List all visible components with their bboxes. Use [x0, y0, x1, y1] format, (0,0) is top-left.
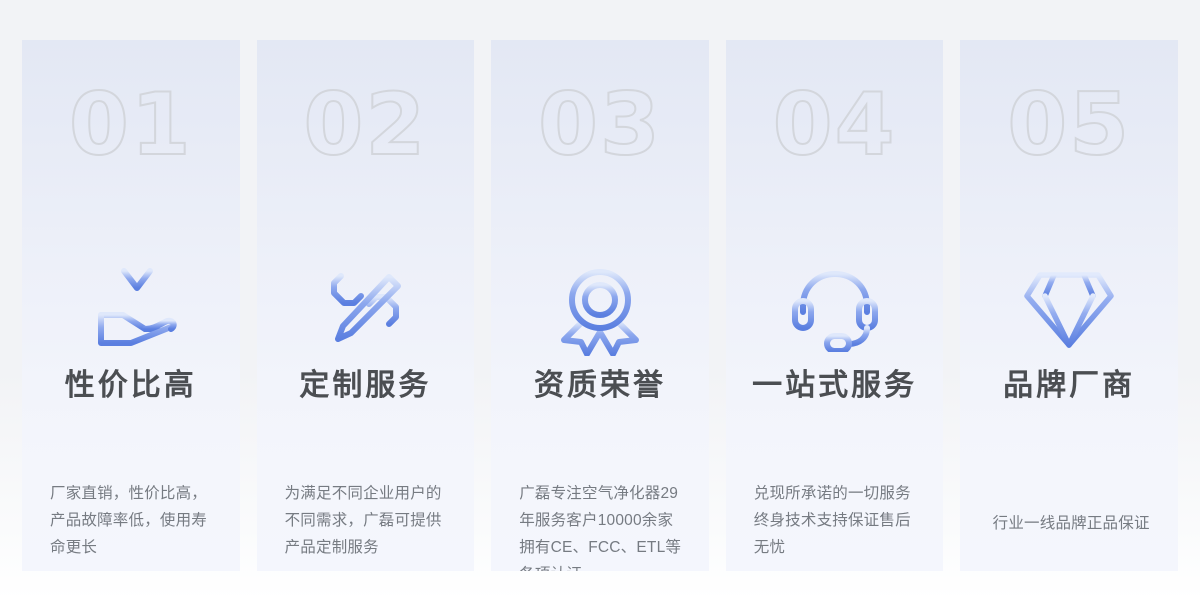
card-description: 广磊专注空气净化器29年服务客户10000余家拥有CE、FCC、ETL等各项认证 [519, 480, 689, 571]
card-description: 厂家直销，性价比高，产品故障率低，使用寿命更长 [50, 480, 220, 561]
card-ordinal-number: 01 [22, 82, 240, 168]
feature-card[interactable]: 01 [22, 40, 240, 571]
diamond-gem-icon [960, 262, 1178, 358]
feature-card[interactable]: 04 [726, 40, 944, 571]
award-ribbon-icon [491, 262, 709, 358]
card-ordinal-number: 02 [257, 82, 475, 168]
pen-and-wrench-icon [257, 262, 475, 358]
headset-support-icon [726, 262, 944, 358]
card-title: 品牌厂商 [960, 367, 1178, 405]
card-description: 兑现所承诺的一切服务终身技术支持保证售后无忧 [754, 480, 924, 561]
feature-card-list: 01 [22, 40, 1178, 571]
card-title: 定制服务 [257, 367, 475, 405]
card-ordinal-number: 03 [491, 82, 709, 168]
card-description: 为满足不同企业用户的不同需求，广磊可提供产品定制服务 [285, 480, 455, 561]
card-title: 一站式服务 [726, 367, 944, 405]
feature-card[interactable]: 03 [491, 40, 709, 571]
card-description: 行业一线品牌正品保证 [974, 510, 1168, 537]
card-ordinal-number: 04 [726, 82, 944, 168]
hand-holding-yuan-icon [22, 262, 240, 358]
card-title: 资质荣誉 [491, 367, 709, 405]
feature-card[interactable]: 05 [960, 40, 1178, 571]
card-title: 性价比高 [22, 367, 240, 405]
card-ordinal-number: 05 [960, 82, 1178, 168]
feature-card[interactable]: 02 [257, 40, 475, 571]
